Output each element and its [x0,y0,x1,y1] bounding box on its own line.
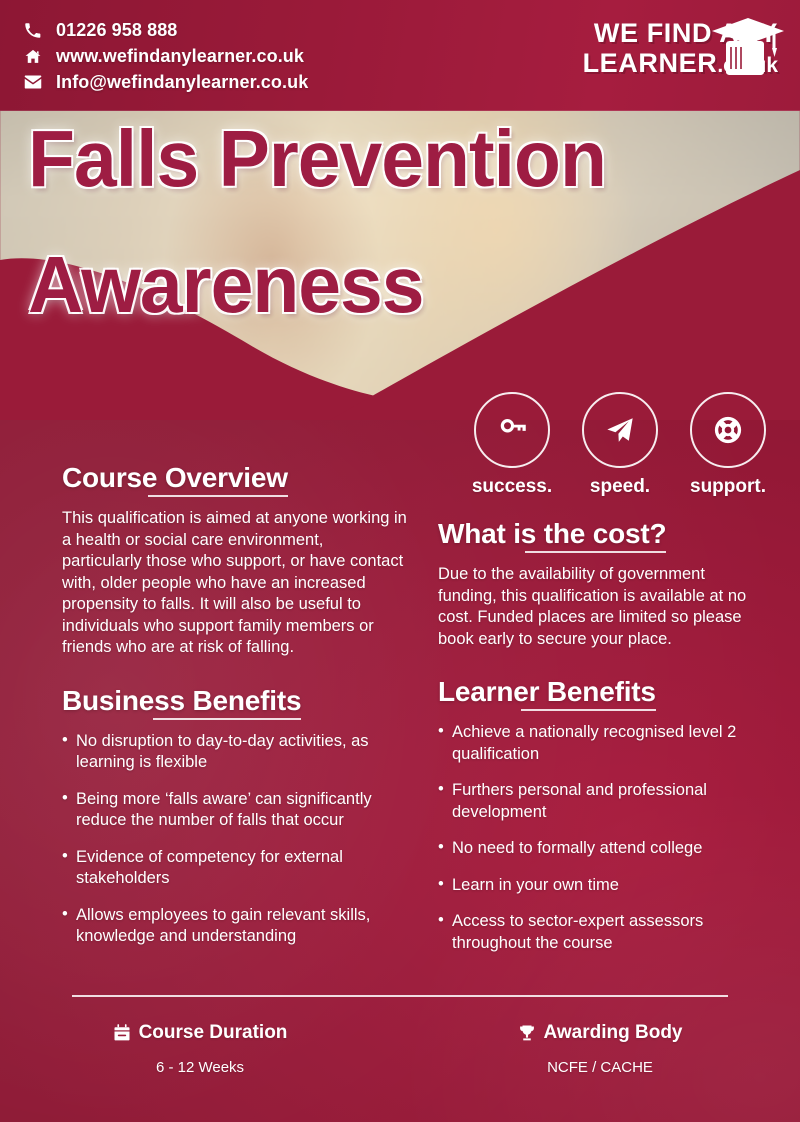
contact-email[interactable]: Info@wefindanylearner.co.uk [24,69,308,95]
cost-heading-text: What is the cost? [438,518,666,549]
list-item: No disruption to day-to-day activities, … [62,731,407,774]
feature-success-label: success. [470,476,554,498]
feature-speed: speed. [578,392,662,498]
learner-benefits-heading-text: Learner Benefits [438,676,656,707]
logo-learner-text: LEARNER [583,48,718,78]
calendar-icon [113,1024,131,1042]
feature-icons: success. speed. support. [470,392,770,498]
feature-speed-label: speed. [578,476,662,498]
heading-underline [525,551,667,553]
feature-support-ring [690,392,766,468]
course-overview-heading: Course Overview [62,462,288,494]
course-duration-heading: Course Duration [113,1022,288,1044]
contact-phone[interactable]: 01226 958 888 [24,17,308,43]
section-business-benefits: Business Benefits No disruption to day-t… [62,685,407,948]
awarding-body-value: NCFE / CACHE [400,1059,800,1076]
heading-underline [153,718,301,720]
list-item: Allows employees to gain relevant skills… [62,905,407,948]
course-overview-heading-text: Course Overview [62,462,288,493]
section-learner-benefits: Learner Benefits Achieve a nationally re… [438,676,768,954]
trophy-icon [518,1024,536,1042]
left-column: Course Overview This qualification is ai… [62,462,407,963]
phone-icon [24,22,48,39]
list-item: Achieve a nationally recognised level 2 … [438,722,768,765]
envelope-icon [24,75,48,89]
business-benefits-heading: Business Benefits [62,685,301,717]
course-duration-label: Course Duration [139,1022,288,1044]
cost-body: Due to the availability of government fu… [438,564,768,650]
heading-underline [148,495,288,497]
learner-benefits-list: Achieve a nationally recognised level 2 … [438,722,768,954]
awarding-body-heading: Awarding Body [518,1022,683,1044]
footer-awarding-body: Awarding Body NCFE / CACHE [400,1022,800,1076]
title-line-2: Awareness [28,246,758,324]
life-ring-icon [713,415,743,445]
list-item: Furthers personal and professional devel… [438,780,768,823]
brand-logo[interactable]: WE FIND ANY LEARNER.co.uk [583,18,778,81]
paper-plane-icon [604,414,636,446]
title-line-1: Falls Prevention [28,120,758,198]
course-overview-body: This qualification is aimed at anyone wo… [62,508,407,659]
learner-benefits-heading: Learner Benefits [438,676,656,708]
list-item: Learn in your own time [438,875,768,897]
list-item: Being more ‘falls aware’ can significant… [62,789,407,832]
feature-speed-ring [582,392,658,468]
home-icon [24,48,48,65]
footer: Course Duration 6 - 12 Weeks Awarding Bo… [0,1022,800,1076]
section-course-overview: Course Overview This qualification is ai… [62,462,407,659]
key-icon [497,415,527,445]
business-benefits-heading-text: Business Benefits [62,685,301,716]
feature-support-label: support. [686,476,770,498]
contact-block: 01226 958 888 www.wefindanylearner.co.uk… [24,17,308,95]
list-item: Evidence of competency for external stak… [62,847,407,890]
page-title: Falls Prevention Awareness [28,120,788,324]
footer-course-duration: Course Duration 6 - 12 Weeks [0,1022,400,1076]
contact-website-text: www.wefindanylearner.co.uk [56,46,304,67]
course-duration-value: 6 - 12 Weeks [0,1059,400,1076]
contact-website[interactable]: www.wefindanylearner.co.uk [24,43,308,69]
list-item: Access to sector-expert assessors throug… [438,911,768,954]
list-item: No need to formally attend college [438,838,768,860]
cost-heading: What is the cost? [438,518,666,550]
section-cost: What is the cost? Due to the availabilit… [438,518,768,650]
contact-email-text: Info@wefindanylearner.co.uk [56,72,308,93]
feature-success-ring [474,392,550,468]
header-bar: 01226 958 888 www.wefindanylearner.co.uk… [0,0,800,111]
graduation-cap-book-icon [710,14,784,80]
business-benefits-list: No disruption to day-to-day activities, … [62,731,407,948]
awarding-body-label: Awarding Body [544,1022,683,1044]
poster-root: 01226 958 888 www.wefindanylearner.co.uk… [0,0,800,1122]
footer-divider [72,995,728,997]
contact-phone-text: 01226 958 888 [56,20,177,41]
right-column: What is the cost? Due to the availabilit… [438,518,768,969]
feature-success: success. [470,392,554,498]
feature-support: support. [686,392,770,498]
heading-underline [521,709,656,711]
